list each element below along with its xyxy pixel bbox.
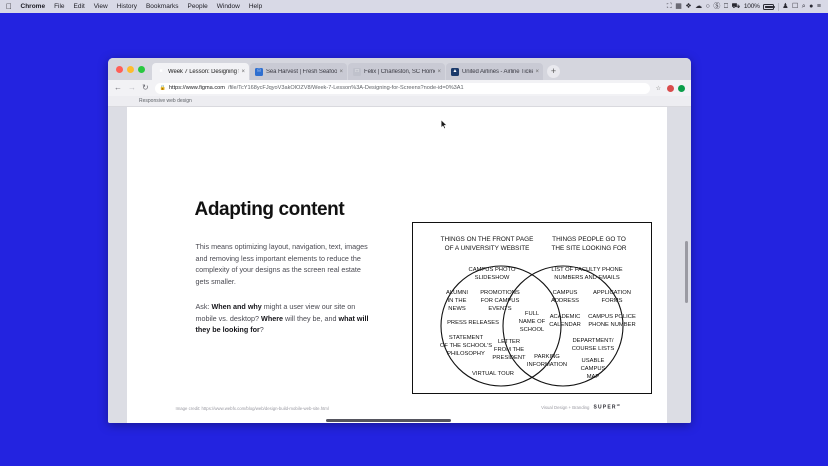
menu-item-people[interactable]: People (183, 0, 212, 13)
tab-close-icon[interactable]: × (339, 69, 343, 75)
svg-text:SCHOOL: SCHOOL (519, 327, 544, 333)
slide-footer-brand: Visual Design + Branding SUPERHI (541, 403, 619, 411)
menu-item-window[interactable]: Window (212, 0, 244, 13)
svg-text:INFORMATION: INFORMATION (526, 362, 566, 368)
control-center-icon[interactable]: ☐ (792, 3, 798, 10)
venn-svg: THINGS ON THE FRONT PAGE OF A UNIVERSITY… (413, 223, 651, 393)
svg-text:FULL: FULL (524, 311, 539, 317)
battery-percent-label: 100% (744, 3, 760, 10)
venn-intersection-items: FULL NAME OF SCHOOL (518, 311, 545, 333)
paragraph-ask: Ask: When and why might a user view our … (196, 301, 376, 336)
new-tab-button[interactable]: + (547, 65, 560, 78)
user-icon[interactable]: ♟ (782, 3, 788, 10)
svg-text:CAMPUS: CAMPUS (580, 366, 605, 372)
svg-text:PRESIDENT: PRESIDENT (492, 355, 526, 361)
tab-united-airlines[interactable]: ▲ United Airlines - Airline Ticket × (446, 63, 543, 80)
venn-right-heading: THINGS PEOPLE GO TO THE SITE LOOKING FOR (551, 236, 626, 252)
tab-close-icon[interactable]: × (437, 69, 441, 75)
tab-title: Week 7 Lesson: Designing fo (168, 69, 239, 75)
figma-icon: ■ (157, 68, 165, 76)
svg-text:NAME OF: NAME OF (518, 319, 545, 325)
globe-icon: ☉ (255, 68, 263, 76)
svg-text:CALENDAR: CALENDAR (549, 322, 581, 328)
svg-text:DEPARTMENT/: DEPARTMENT/ (572, 338, 613, 344)
address-bar[interactable]: 🔒 https://www.figma.com/file/TcY168ycFJq… (155, 83, 650, 94)
svg-text:LETTER: LETTER (497, 339, 519, 345)
battery-icon[interactable] (763, 4, 774, 10)
wifi-icon[interactable]: ⛟ (732, 3, 741, 10)
svg-text:NEWS: NEWS (448, 306, 466, 312)
lock-icon: 🔒 (160, 85, 166, 91)
superhi-sup: HI (617, 403, 620, 407)
url-host: https://www.figma.com (169, 85, 225, 91)
page-viewport: Adapting content This means optimizing l… (108, 107, 691, 423)
svg-text:CAMPUS PHOTO: CAMPUS PHOTO (468, 267, 515, 273)
svg-text:APPLICATION: APPLICATION (593, 290, 631, 296)
menu-item-edit[interactable]: Edit (69, 0, 89, 13)
svg-text:SLIDESHOW: SLIDESHOW (474, 275, 509, 281)
star-icon[interactable]: ☆ (656, 85, 661, 92)
menu-item-help[interactable]: Help (244, 0, 266, 13)
venn-left-heading: THINGS ON THE FRONT PAGE OF A UNIVERSITY… (440, 236, 533, 252)
svg-text:THE SITE LOOKING FOR: THE SITE LOOKING FOR (551, 245, 626, 252)
extensions-area (667, 85, 685, 92)
shield-icon[interactable]: Ⓢ (713, 3, 720, 10)
bookmark-responsive-web-design[interactable]: Responsive web design (139, 98, 192, 104)
svg-text:PHILOSOPHY: PHILOSOPHY (447, 351, 485, 357)
tab-title: Felix | Charleston, SC Home (364, 69, 435, 75)
cloud-icon[interactable]: ☁ (695, 3, 702, 10)
svg-text:EVENTS: EVENTS (488, 306, 511, 312)
svg-text:OF A UNIVERSITY WEBSITE: OF A UNIVERSITY WEBSITE (444, 245, 529, 252)
chrome-browser-window: ■ Week 7 Lesson: Designing fo × ☉ Sea Ha… (108, 58, 691, 423)
svg-text:MAP: MAP (586, 374, 599, 380)
svg-text:THINGS ON THE FRONT PAGE: THINGS ON THE FRONT PAGE (440, 236, 533, 243)
page-icon: □ (353, 68, 361, 76)
svg-text:THINGS PEOPLE GO TO: THINGS PEOPLE GO TO (552, 236, 626, 243)
screen-share-icon[interactable]: ⛶ (667, 3, 672, 10)
united-icon: ▲ (451, 68, 459, 76)
svg-text:FOR CAMPUS: FOR CAMPUS (480, 298, 519, 304)
tab-close-icon[interactable]: × (535, 69, 539, 75)
svg-text:VIRTUAL TOUR: VIRTUAL TOUR (472, 371, 514, 377)
page-title: Adapting content (195, 199, 345, 221)
display-icon[interactable]: ▦ (675, 3, 682, 10)
ask-rich-text: Ask: When and why might a user view our … (196, 302, 369, 334)
window-controls (114, 58, 152, 80)
menubar-divider (778, 3, 779, 11)
venn-diagram: THINGS ON THE FRONT PAGE OF A UNIVERSITY… (412, 222, 652, 394)
keyboard-icon[interactable]: ⎕ (724, 3, 728, 10)
extension-red-icon[interactable] (667, 85, 674, 92)
maximize-button[interactable] (138, 66, 145, 73)
search-icon[interactable]: ⌕ (802, 3, 806, 10)
forward-button[interactable]: → (128, 84, 136, 92)
svg-text:STATEMENT: STATEMENT (448, 335, 483, 341)
svg-text:LIST OF FACULTY PHONE: LIST OF FACULTY PHONE (551, 267, 622, 273)
menu-item-view[interactable]: View (89, 0, 112, 13)
tab-title: Sea Harvest | Fresh Seafood (266, 69, 337, 75)
svg-text:NUMBERS AND EMAILS: NUMBERS AND EMAILS (554, 275, 620, 281)
figma-slide: Adapting content This means optimizing l… (127, 107, 667, 423)
paragraph-optimizing: This means optimizing layout, navigation… (196, 241, 376, 287)
vertical-scrollbar-thumb[interactable] (685, 241, 688, 303)
svg-text:FROM THE: FROM THE (493, 347, 523, 353)
svg-text:PHONE NUMBER: PHONE NUMBER (588, 322, 635, 328)
svg-text:PARKING: PARKING (534, 354, 560, 360)
macos-menubar:  Chrome File Edit View History Bookmark… (0, 0, 828, 13)
list-icon[interactable]: ≡ (817, 3, 821, 10)
svg-text:CAMPUS POLICE: CAMPUS POLICE (588, 314, 636, 320)
tab-strip: ■ Week 7 Lesson: Designing fo × ☉ Sea Ha… (108, 58, 691, 80)
svg-text:FORMS: FORMS (601, 298, 622, 304)
url-path: /file/TcY168ycFJqyoV3akOlOZV8/Week-7-Les… (228, 85, 464, 91)
venn-left-circle (441, 266, 561, 386)
clock-icon[interactable]: ○ (706, 3, 710, 10)
mouse-cursor (441, 120, 448, 130)
minimize-button[interactable] (127, 66, 134, 73)
menubar-status-area: ⛶ ▦ ❖ ☁ ○ Ⓢ ⎕ ⛟ 100% ♟ ☐ ⌕ ● ≡ (667, 3, 824, 11)
svg-text:OF THE SCHOOL'S: OF THE SCHOOL'S (439, 343, 491, 349)
vertical-scrollbar[interactable] (684, 107, 689, 423)
svg-text:USABLE: USABLE (581, 358, 604, 364)
tab-close-icon[interactable]: × (241, 69, 245, 75)
browser-toolbar: ← → ↻ 🔒 https://www.figma.com/file/TcY16… (108, 80, 691, 96)
tab-figma-lesson[interactable]: ■ Week 7 Lesson: Designing fo × (152, 63, 249, 80)
footer-note: Visual Design + Branding (541, 405, 589, 410)
svg-text:ALUMNI: ALUMNI (446, 290, 468, 296)
apple-logo-icon[interactable]:  (4, 3, 14, 11)
menu-item-file[interactable]: File (50, 0, 69, 13)
svg-text:ACADEMIC: ACADEMIC (549, 314, 580, 320)
venn-left-items: CAMPUS PHOTO SLIDESHOW ALUMNI IN THE NEW… (439, 267, 525, 377)
svg-text:CAMPUS: CAMPUS (552, 290, 577, 296)
svg-text:COURSE LISTS: COURSE LISTS (571, 346, 614, 352)
reload-button[interactable]: ↻ (142, 84, 149, 92)
dropbox-icon[interactable]: ❖ (685, 3, 691, 10)
extension-green-icon[interactable] (678, 85, 685, 92)
bookmarks-bar: Responsive web design (108, 96, 691, 107)
back-button[interactable]: ← (114, 84, 122, 92)
siri-icon[interactable]: ● (809, 3, 813, 10)
menu-item-bookmarks[interactable]: Bookmarks (141, 0, 183, 13)
superhi-logo: SUPERHI (593, 403, 619, 411)
horizontal-scrollbar-thumb[interactable] (326, 419, 451, 422)
tab-felix-charleston[interactable]: □ Felix | Charleston, SC Home × (348, 63, 445, 80)
menu-item-history[interactable]: History (112, 0, 141, 13)
close-button[interactable] (116, 66, 123, 73)
tab-sea-harvest[interactable]: ☉ Sea Harvest | Fresh Seafood × (250, 63, 347, 80)
svg-text:IN THE: IN THE (447, 298, 466, 304)
svg-text:PROMOTIONS: PROMOTIONS (480, 290, 520, 296)
svg-text:PRESS RELEASES: PRESS RELEASES (447, 320, 499, 326)
svg-text:ADDRESS: ADDRESS (550, 298, 578, 304)
image-credit: Image credit: https://www.webfx.com/blog… (176, 406, 329, 411)
tab-title: United Airlines - Airline Ticket (462, 69, 533, 75)
horizontal-scrollbar[interactable] (108, 418, 691, 423)
menu-item-chrome[interactable]: Chrome (16, 0, 50, 13)
